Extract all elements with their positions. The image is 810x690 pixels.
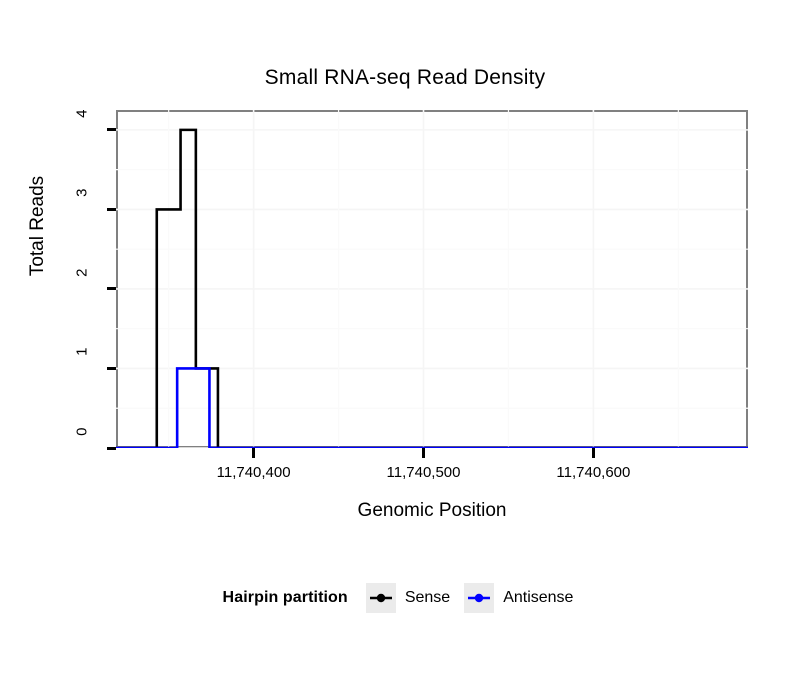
plot-panel [116,110,748,448]
y-tick-label: 1 [74,348,91,388]
x-tick-label: 11,740,600 [523,464,663,481]
x-tick-mark [592,448,595,458]
x-tick-label: 11,740,500 [354,464,494,481]
series-line-antisense [116,368,748,448]
y-tick-mark [107,447,116,450]
y-axis-ticks: 01234 [0,110,116,448]
x-tick-mark [252,448,255,458]
x-tick-mark [422,448,425,458]
y-tick-mark [107,287,116,290]
legend-item-antisense[interactable]: Antisense [464,583,573,613]
y-tick-label: 2 [74,268,91,308]
legend-key-sense-icon [366,583,396,613]
legend-item-sense[interactable]: Sense [366,583,450,613]
y-tick-mark [107,208,116,211]
legend-title: Hairpin partition [223,589,348,607]
legend-label-sense: Sense [405,589,450,607]
x-tick-label: 11,740,400 [184,464,324,481]
x-axis-title: Genomic Position [116,500,748,522]
chart-legend: Hairpin partition Sense Antisense [0,583,810,613]
y-tick-mark [107,128,116,131]
y-tick-label: 4 [74,109,91,149]
x-axis-ticks: 11,740,40011,740,50011,740,600 [116,448,748,500]
chart-title: Small RNA-seq Read Density [0,66,810,90]
legend-key-antisense-icon [464,583,494,613]
y-tick-label: 0 [74,428,91,468]
y-tick-label: 3 [74,189,91,229]
chart-container: Small RNA-seq Read Density Total Reads 0… [0,0,810,690]
series-line-sense [116,130,748,448]
data-series-layer [116,110,748,448]
y-tick-mark [107,367,116,370]
legend-label-antisense: Antisense [503,589,573,607]
